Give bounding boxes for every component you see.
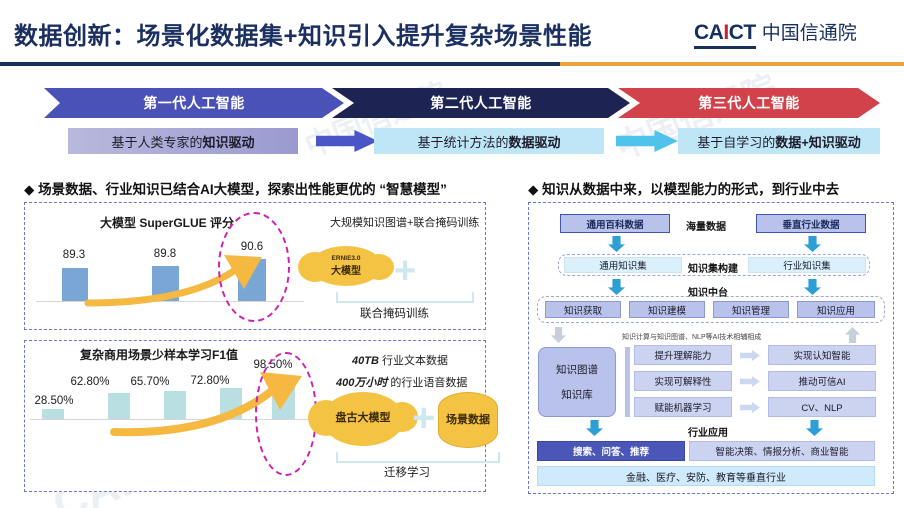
driver-1-strong: 知识驱动 — [203, 132, 255, 151]
chart2-bar-label-3: 65.70% — [122, 376, 178, 388]
header-rule — [0, 62, 904, 66]
generation-banner: 第一代人工智能 第二代人工智能 第三代人工智能 — [44, 88, 880, 118]
arrow-right-icon-2 — [616, 130, 678, 152]
chart2-bar-label-2: 62.80% — [62, 376, 118, 388]
chart2-bar-1 — [42, 409, 64, 419]
driver-box-3: 基于自学习的数据+知识驱动 — [678, 128, 880, 154]
chart2-note-num1: 40TB — [352, 355, 379, 367]
chart2-bar-3 — [164, 391, 186, 419]
source-box-vertical: 垂直行业数据 — [756, 214, 866, 233]
driver-3-prefix: 基于自学习的 — [697, 132, 775, 151]
slide-header: 数据创新：场景化数据集+知识引入提升复杂场景性能 CAICT 中国信通院 — [0, 16, 904, 58]
kg-divider-bar — [625, 347, 630, 417]
header-rule-blue — [0, 62, 560, 66]
tech-note: 知识计算与知识图谱、NLP等AI技术相辅相成 — [622, 332, 761, 342]
platform-item-model: 知识建模 — [629, 301, 705, 318]
page-title: 数据创新：场景化数据集+知识引入提升复杂场景性能 — [14, 16, 592, 51]
logo-ct: CT — [729, 21, 756, 44]
right-section-bullet: ◆ 知识从数据中来，以模型能力的形式，到行业中去 — [528, 178, 839, 198]
pangu-model-label: 盘古大模型 — [336, 413, 391, 425]
outcome-box-1: 实现认知智能 — [768, 345, 876, 365]
chart2-bar-label-1: 28.50% — [26, 395, 82, 407]
caict-logo: CAICT 中国信通院 — [694, 18, 857, 49]
capability-box-1: 提升理解能力 — [634, 345, 732, 365]
platform-item-manage: 知识管理 — [713, 301, 789, 318]
driver-box-2: 基于统计方法的数据驱动 — [374, 128, 604, 154]
chart2-note-line2: 400万小时 的行业语音数据 — [336, 374, 467, 390]
generation-chevron-3: 第三代人工智能 — [618, 88, 880, 118]
chart1-bar-2 — [152, 266, 179, 301]
slide-root: CAICT 中国信通院 中国信通院 中国信通院 中国信通院 中国信通院 数据创新… — [0, 0, 904, 508]
arrow-right-icon-1 — [316, 130, 378, 152]
chart2-note-text2: 的行业语音数据 — [390, 377, 467, 389]
chart1-highlight-ellipse — [218, 212, 290, 322]
chart1-brace — [336, 292, 474, 303]
capability-box-2: 实现可解释性 — [634, 371, 732, 391]
knowledge-graph-label: 知识图谱 — [556, 362, 598, 377]
chart1-plus-icon: + — [394, 252, 416, 290]
header-rule-gold — [560, 62, 904, 66]
driver-2-strong: 数据驱动 — [509, 132, 561, 151]
generation-chevron-2: 第二代人工智能 — [332, 88, 630, 118]
driver-1-prefix: 基于人类专家的 — [111, 132, 202, 151]
outcome-box-2: 推动可信AI — [768, 371, 876, 391]
industry-application-label: 行业应用 — [688, 424, 728, 439]
knowledge-base-label: 知识库 — [561, 387, 593, 402]
left-section-bullet: ◆ 场景数据、行业知识已结合AI大模型，探索出性能更优的 “智慧模型” — [24, 178, 447, 198]
knowledge-graph-box: 知识图谱 知识库 — [538, 347, 616, 417]
industries-box: 金融、医疗、安防、教育等垂直行业 — [537, 466, 875, 486]
outcome-box-3: CV、NLP — [768, 397, 876, 417]
platform-item-apply: 知识应用 — [797, 301, 875, 318]
chart2-note-text1: 行业文本数据 — [382, 355, 448, 367]
chart1-bar-label-2: 89.8 — [143, 248, 187, 260]
logo-chinese-name: 中国信通院 — [762, 18, 857, 45]
scene-data-cylinder: 场景数据 — [438, 392, 498, 448]
chart2-bar-2 — [108, 393, 130, 419]
platform-item-acquire: 知识获取 — [545, 301, 621, 318]
capability-box-3: 赋能机器学习 — [634, 397, 732, 417]
logo-wordmark: CAICT — [694, 21, 756, 49]
driver-3-strong: 数据+知识驱动 — [775, 132, 861, 151]
source-box-general: 通用百科数据 — [560, 214, 670, 233]
chart2-bar-4 — [220, 388, 242, 419]
chart1-bar-label-1: 89.3 — [52, 249, 96, 261]
driver-row: 基于人类专家的知识驱动 基于统计方法的数据驱动 基于自学习的数据+知识驱动 — [44, 128, 880, 154]
chart2-brace — [336, 452, 500, 463]
chart1-title: 大模型 SuperGLUE 评分 — [100, 214, 234, 231]
chart2-plus-icon: + — [412, 398, 435, 438]
chart1-brace-label: 联合掩码训练 — [360, 305, 429, 321]
pangu-model-cloud: 盘古大模型 — [322, 392, 404, 446]
chart2-brace-label: 迁移学习 — [384, 464, 430, 480]
driver-box-1: 基于人类专家的知识驱动 — [68, 128, 298, 154]
application-box-decision: 智能决策、情报分析、商业智能 — [689, 441, 875, 461]
ernie-model-label: 大模型 — [331, 262, 361, 277]
ernie-model-cloud: ERNIE3.0 大模型 — [310, 246, 382, 286]
application-box-search: 搜索、问答、推荐 — [537, 441, 685, 461]
chart2-note-num2: 400万小时 — [336, 377, 387, 389]
driver-2-prefix: 基于统计方法的 — [417, 132, 508, 151]
knowledge-set-build-label: 知识集构建 — [688, 260, 738, 275]
chart1-note: 大规模知识图谱+联合掩码训练 — [330, 214, 479, 230]
chart2-note-line1: 40TB 行业文本数据 — [352, 352, 448, 368]
chart1-bar-1 — [62, 268, 88, 301]
chart2-title: 复杂商用场景少样本学习F1值 — [80, 346, 238, 363]
generation-chevron-1: 第一代人工智能 — [44, 88, 344, 118]
chart2-bar-label-4: 72.80% — [182, 375, 238, 387]
massive-data-label: 海量数据 — [686, 218, 726, 233]
knowledge-set-general: 通用知识集 — [564, 257, 682, 273]
ernie-version-label: ERNIE3.0 — [332, 255, 361, 262]
logo-ca: CA — [694, 21, 723, 44]
knowledge-set-industry: 行业知识集 — [748, 257, 866, 273]
